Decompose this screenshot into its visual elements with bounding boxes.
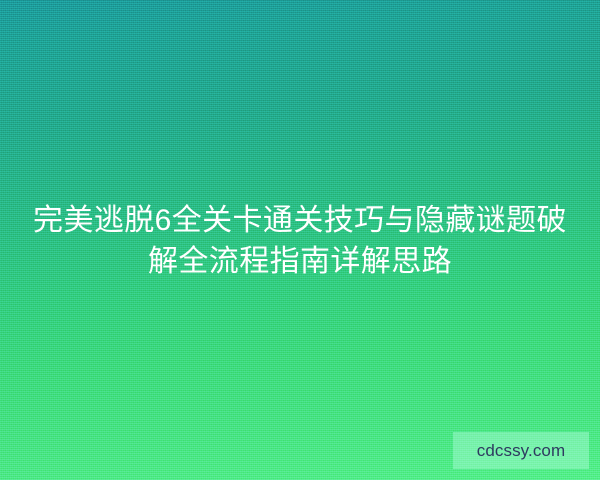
page-title: 完美逃脱6全关卡通关技巧与隐藏谜题破 解全流程指南详解思路 [0,200,600,282]
banner-image: 完美逃脱6全关卡通关技巧与隐藏谜题破 解全流程指南详解思路 cdcssy.com [0,0,600,480]
page-title-line-2: 解全流程指南详解思路 [24,241,576,282]
page-title-line-1: 完美逃脱6全关卡通关技巧与隐藏谜题破 [24,200,576,241]
watermark-label: cdcssy.com [477,442,566,459]
watermark-badge: cdcssy.com [453,432,589,469]
